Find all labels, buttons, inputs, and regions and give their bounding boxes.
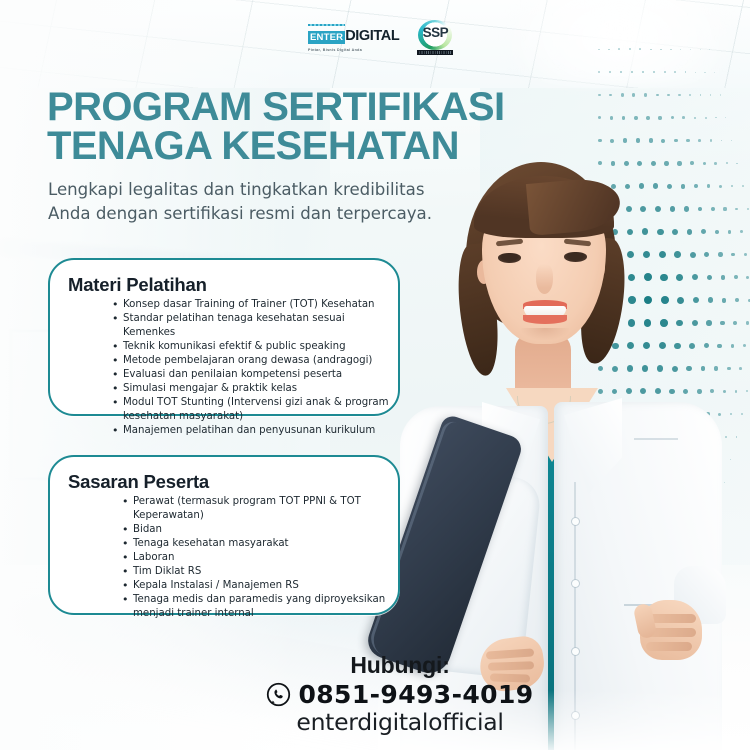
lower-lip: [523, 315, 567, 324]
ssp-logo: SSP: [415, 20, 455, 56]
list-item: Konsep dasar Training of Trainer (TOT) K…: [110, 298, 398, 312]
card-materi-pelatihan: Materi Pelatihan Konsep dasar Training o…: [48, 258, 400, 416]
card-heading: Sasaran Peserta: [68, 471, 398, 493]
subtitle-line-2: Anda dengan sertifikasi resmi dan terper…: [48, 202, 468, 226]
list-item: Kepala Instalasi / Manajemen RS: [120, 579, 398, 593]
list-item: Manajemen pelatihan dan penyusunan kurik…: [110, 424, 398, 438]
lab-coat-button-2: [572, 580, 579, 587]
contact-block: Hubungi: 0851-9493-4019 enterdigitaloffi…: [230, 652, 570, 736]
poster-canvas: ENTER DIGITAL Pintar, Bisnis Digital And…: [0, 0, 750, 750]
list-item: Metode pembelajaran orang dewasa (andrag…: [110, 354, 398, 368]
chin-shadow: [521, 328, 569, 340]
lab-coat-button-1: [572, 518, 579, 525]
title-line-2: TENAGA KESEHATAN: [47, 127, 517, 166]
page-title: PROGRAM SERTIFIKASI TENAGA KESEHATAN: [47, 88, 517, 166]
lab-coat-chest-pocket: [634, 438, 678, 440]
card-list: Konsep dasar Training of Trainer (TOT) K…: [110, 298, 398, 438]
list-item: Modul TOT Stunting (Intervensi gizi anak…: [110, 396, 398, 424]
nose: [536, 264, 553, 294]
list-item: Tenaga medis dan paramedis yang diproyek…: [120, 593, 398, 621]
list-item: Perawat (termasuk program TOT PPNI & TOT…: [120, 495, 398, 523]
contact-phone-row[interactable]: 0851-9493-4019: [230, 680, 570, 709]
enter-logo-stripe: [308, 24, 345, 26]
lab-coat-button-3: [572, 648, 579, 655]
whatsapp-icon[interactable]: [266, 682, 291, 707]
contact-phone-number[interactable]: 0851-9493-4019: [298, 680, 533, 709]
list-item: Simulasi mengajar & praktik kelas: [110, 382, 398, 396]
subtitle-line-1: Lengkapi legalitas dan tingkatkan kredib…: [48, 178, 468, 202]
digital-wordmark: DIGITAL: [345, 29, 399, 44]
list-item: Evaluasi dan penilaian kompetensi pesert…: [110, 368, 398, 382]
list-item: Standar pelatihan tenaga kesehatan sesua…: [110, 312, 398, 340]
enter-digital-logo: ENTER DIGITAL Pintar, Bisnis Digital And…: [308, 24, 399, 52]
contact-heading: Hubungi:: [230, 652, 570, 679]
enter-wordmark: ENTER: [308, 31, 345, 44]
ssp-wordmark: SSP: [415, 25, 455, 40]
enter-digital-tagline: Pintar, Bisnis Digital Anda: [308, 48, 362, 52]
contact-social-handle[interactable]: enterdigitalofficial: [230, 708, 570, 736]
list-item: Laboran: [120, 551, 398, 565]
eye-right: [564, 252, 587, 262]
card-heading: Materi Pelatihan: [68, 274, 398, 296]
page-subtitle: Lengkapi legalitas dan tingkatkan kredib…: [48, 178, 468, 225]
list-item: Teknik komunikasi efektif & public speak…: [110, 340, 398, 354]
ssp-logo-bar: [417, 50, 453, 55]
finger-right-3: [646, 642, 692, 651]
list-item: Bidan: [120, 523, 398, 537]
card-list: Perawat (termasuk program TOT PPNI & TOT…: [120, 495, 398, 621]
ceiling-light-glow: [505, 0, 735, 86]
logo-bar: ENTER DIGITAL Pintar, Bisnis Digital And…: [308, 20, 455, 56]
title-line-1: PROGRAM SERTIFIKASI: [47, 85, 505, 129]
list-item: Tenaga kesehatan masyarakat: [120, 537, 398, 551]
list-item: Tim Diklat RS: [120, 565, 398, 579]
eye-left: [498, 253, 521, 263]
card-sasaran-peserta: Sasaran Peserta Perawat (termasuk progra…: [48, 455, 400, 615]
